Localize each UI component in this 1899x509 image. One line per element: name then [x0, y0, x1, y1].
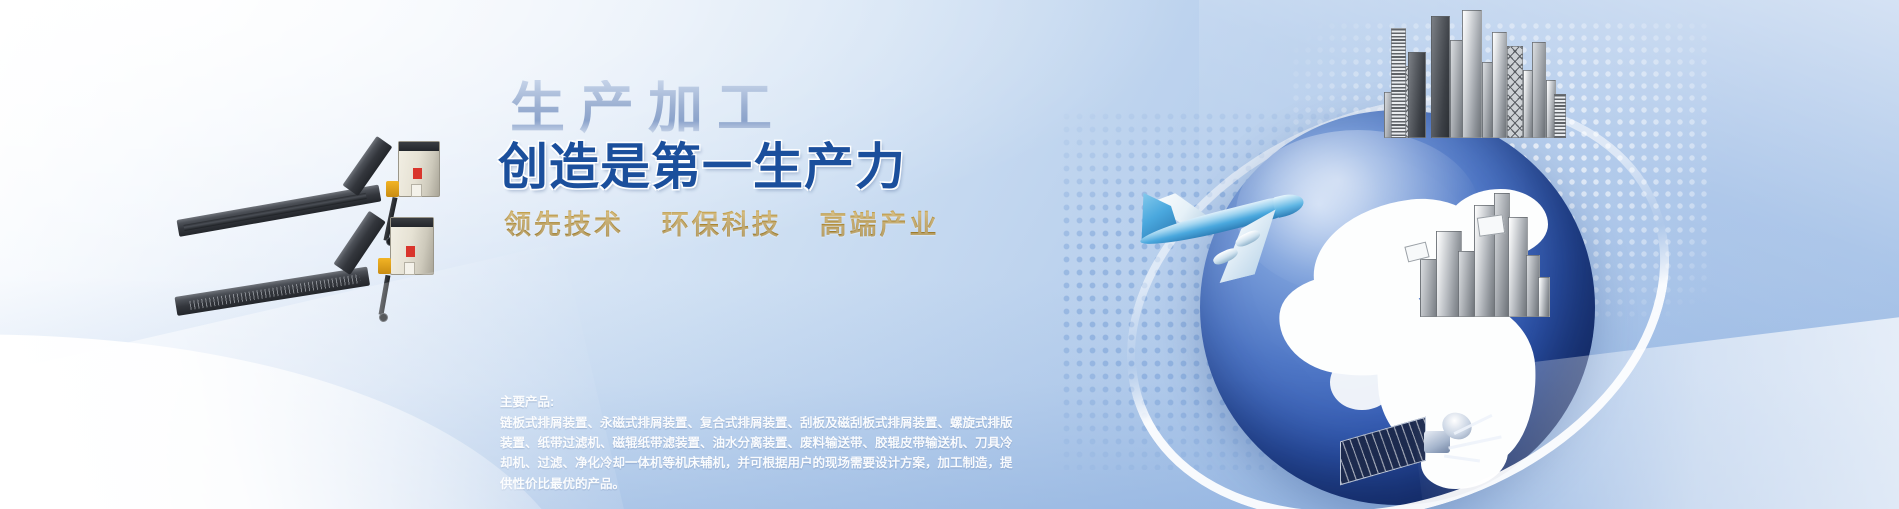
city-skyline [1382, 0, 1572, 138]
tagline-item-1: 领先技术 [504, 210, 624, 240]
machine-control-knob [386, 181, 399, 197]
promotional-banner: 生产加工 创造是第一生产力 领先技术 环保科技 高端产业 主要产品: 链板式排屑… [0, 0, 1899, 509]
product-heading: 主要产品: [500, 393, 1240, 412]
product-line: 链板式排屑装置、永磁式排屑装置、复合式排屑装置、刮板及磁刮板式排屑装置、螺旋式排… [500, 413, 1240, 433]
continent-shape [1330, 355, 1393, 410]
product-line: 却机、过滤、净化冷却一体机等机床辅机，并可根据用户的现场需要设计方案，加工制造，… [500, 453, 1240, 473]
banner-tagline-row: 领先技术 环保科技 高端产业 [504, 203, 968, 242]
satellite [1340, 405, 1530, 505]
product-description-text: 链板式排屑装置、永磁式排屑装置、复合式排屑装置、刮板及磁刮板式排屑装置、螺旋式排… [500, 413, 1240, 494]
city-skyline-foreground [1420, 182, 1555, 317]
banner-text-block: 生产加工 创造是第一生产力 领先技术 环保科技 高端产业 [498, 80, 968, 242]
machine-wheel-2 [379, 313, 388, 322]
product-line: 装置、纸带过滤机、磁辊纸带滤装置、油水分离装置、废料输送带、胶辊皮带输送机、刀具… [500, 433, 1240, 453]
tagline-item-2: 环保科技 [662, 210, 782, 240]
product-line: 供性价比最优的产品。 [500, 474, 1240, 494]
satellite-antenna-arm [1444, 455, 1480, 463]
banner-title: 生产加工 [510, 80, 968, 138]
satellite-solar-panel [1340, 417, 1426, 486]
machine-spec-label [411, 184, 422, 197]
machine-warning-label-2 [406, 246, 415, 257]
banner-headline: 创造是第一生产力 [498, 140, 968, 195]
machine-head-cap [399, 142, 439, 151]
tagline-item-3: 高端产业 [820, 210, 940, 240]
machine-control-knob-2 [378, 258, 391, 274]
machine-warning-label [413, 168, 422, 179]
product-description-block: 主要产品: 链板式排屑装置、永磁式排屑装置、复合式排屑装置、刮板及磁刮板式排屑装… [500, 393, 1240, 494]
chip-conveyor-machines [150, 125, 550, 325]
machine-spec-label-2 [404, 262, 415, 275]
machine-head-cap-2 [391, 218, 433, 227]
airplane-nose [1272, 191, 1306, 219]
